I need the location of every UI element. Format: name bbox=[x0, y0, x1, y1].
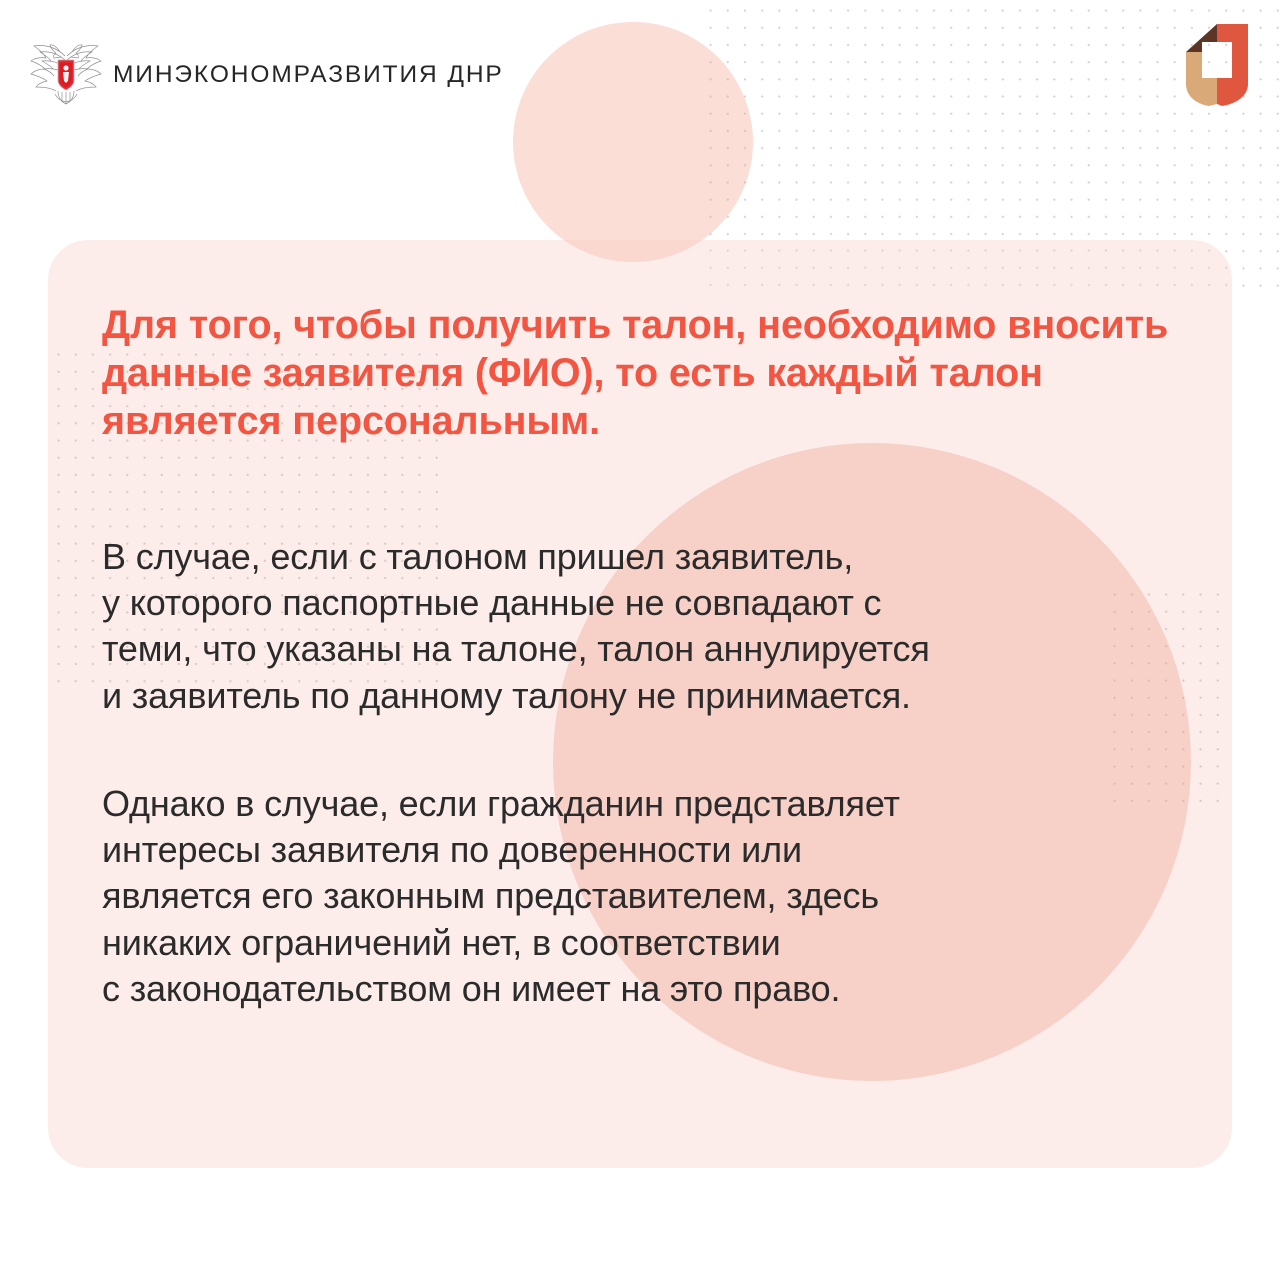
headline-line: Для того, чтобы получить талон, необходи… bbox=[102, 303, 996, 347]
paragraph-line: В случае, если с талоном пришел заявител… bbox=[102, 534, 1178, 580]
paragraph-line: никаких ограничений нет, в соответствии bbox=[102, 920, 1178, 966]
paragraph-line: интересы заявителя по доверенности или bbox=[102, 827, 1178, 873]
paragraph-line: Однако в случае, если гражданин представ… bbox=[102, 781, 1178, 827]
paragraph-line: у которого паспортные данные не совпадаю… bbox=[102, 580, 1178, 626]
paragraph-line: теми, что указаны на талоне, талон аннул… bbox=[102, 626, 1178, 672]
dnr-double-headed-eagle-emblem-icon bbox=[24, 36, 108, 108]
brand-name: МИНЭКОНОМРАЗВИТИЯ ДНР bbox=[113, 61, 504, 89]
body-paragraph-1: В случае, если с талоном пришел заявител… bbox=[102, 534, 1178, 719]
paragraph-line: с законодательством он имеет на это прав… bbox=[102, 966, 1178, 1012]
paragraph-line: и заявитель по данному талону не принима… bbox=[102, 673, 1178, 719]
body-paragraph-2: Однако в случае, если гражданин представ… bbox=[102, 781, 1178, 1012]
ministry-shield-logo-icon bbox=[1178, 22, 1256, 106]
poster-root: МИНЭКОНОМРАЗВИТИЯ ДНР Для того, чтобы по… bbox=[0, 0, 1280, 1280]
page-header: МИНЭКОНОМРАЗВИТИЯ ДНР bbox=[0, 0, 1280, 130]
paragraph-line: является его законным представителем, зд… bbox=[102, 873, 1178, 919]
card-content: Для того, чтобы получить талон, необходи… bbox=[48, 240, 1232, 1012]
content-card: Для того, чтобы получить талон, необходи… bbox=[48, 240, 1232, 1168]
headline: Для того, чтобы получить талон, необходи… bbox=[102, 302, 1178, 446]
